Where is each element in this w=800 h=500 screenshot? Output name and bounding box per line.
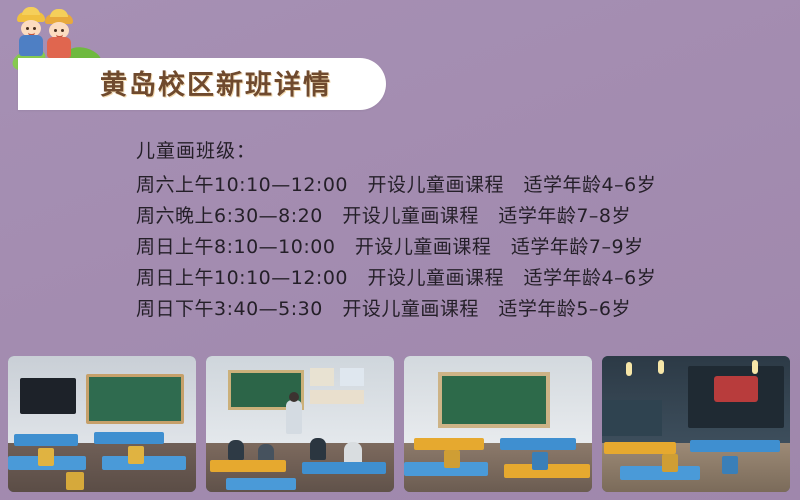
desk: [690, 440, 780, 452]
page-title: 黄岛校区新班详情: [100, 63, 332, 102]
wall-poster: [310, 390, 364, 404]
desk: [14, 434, 78, 446]
student-figure: [310, 438, 326, 460]
kid-boy-icon: [16, 12, 46, 56]
chair: [128, 446, 144, 464]
eye-icon: [26, 27, 29, 30]
desk: [414, 438, 484, 450]
chair: [722, 456, 738, 474]
chair: [38, 448, 54, 466]
teacher-figure: [286, 400, 302, 434]
tv-screen: [20, 378, 76, 414]
wall-poster: [340, 368, 364, 386]
body-icon: [47, 37, 71, 58]
desk: [94, 432, 164, 444]
eye-icon: [61, 29, 64, 32]
chair: [662, 454, 678, 472]
desk: [102, 456, 186, 470]
wall-poster: [310, 368, 334, 386]
schedule-line-1: 周六上午10:10—12:00 开设儿童画课程 适学年龄4–6岁: [136, 170, 776, 201]
classroom-photo-4: [602, 356, 790, 492]
desk: [210, 460, 286, 472]
cabinet: [602, 400, 662, 436]
desk: [620, 466, 700, 480]
kid-girl-icon: [44, 14, 74, 58]
red-sign: [714, 376, 758, 402]
ceiling-lamp: [626, 362, 632, 376]
ceiling-lamp: [658, 360, 664, 374]
poster-header: 黄岛校区新班详情: [0, 0, 800, 118]
schedule-line-3: 周日上午8:10—10:00 开设儿童画课程 适学年龄7–9岁: [136, 232, 776, 263]
desk: [226, 478, 296, 490]
green-board: [438, 372, 550, 428]
schedule-heading: 儿童画班级：: [136, 136, 776, 166]
classroom-photo-1: [8, 356, 196, 492]
schedule-line-4: 周日上午10:10—12:00 开设儿童画课程 适学年龄4–6岁: [136, 263, 776, 294]
body-icon: [19, 35, 43, 56]
class-schedule-block: 儿童画班级： 周六上午10:10—12:00 开设儿童画课程 适学年龄4–6岁 …: [136, 136, 776, 325]
desk: [302, 462, 386, 474]
eye-icon: [54, 29, 57, 32]
schedule-line-5: 周日下午3:40—5:30 开设儿童画课程 适学年龄5–6岁: [136, 294, 776, 325]
eye-icon: [33, 27, 36, 30]
schedule-line-2: 周六晚上6:30—8:20 开设儿童画课程 适学年龄7–8岁: [136, 201, 776, 232]
desk: [604, 442, 676, 454]
poster-page: 黄岛校区新班详情 儿童画班级： 周六上午10:10—12:00 开设儿童画课程 …: [0, 0, 800, 500]
chair: [444, 450, 460, 468]
photo-strip: [8, 356, 792, 492]
chair: [532, 452, 548, 470]
classroom-photo-3: [404, 356, 592, 492]
green-board: [86, 374, 184, 424]
desk: [500, 438, 576, 450]
ceiling-lamp: [752, 360, 758, 374]
classroom-photo-2: [206, 356, 394, 492]
chair: [66, 472, 84, 490]
student-figure: [228, 440, 244, 460]
